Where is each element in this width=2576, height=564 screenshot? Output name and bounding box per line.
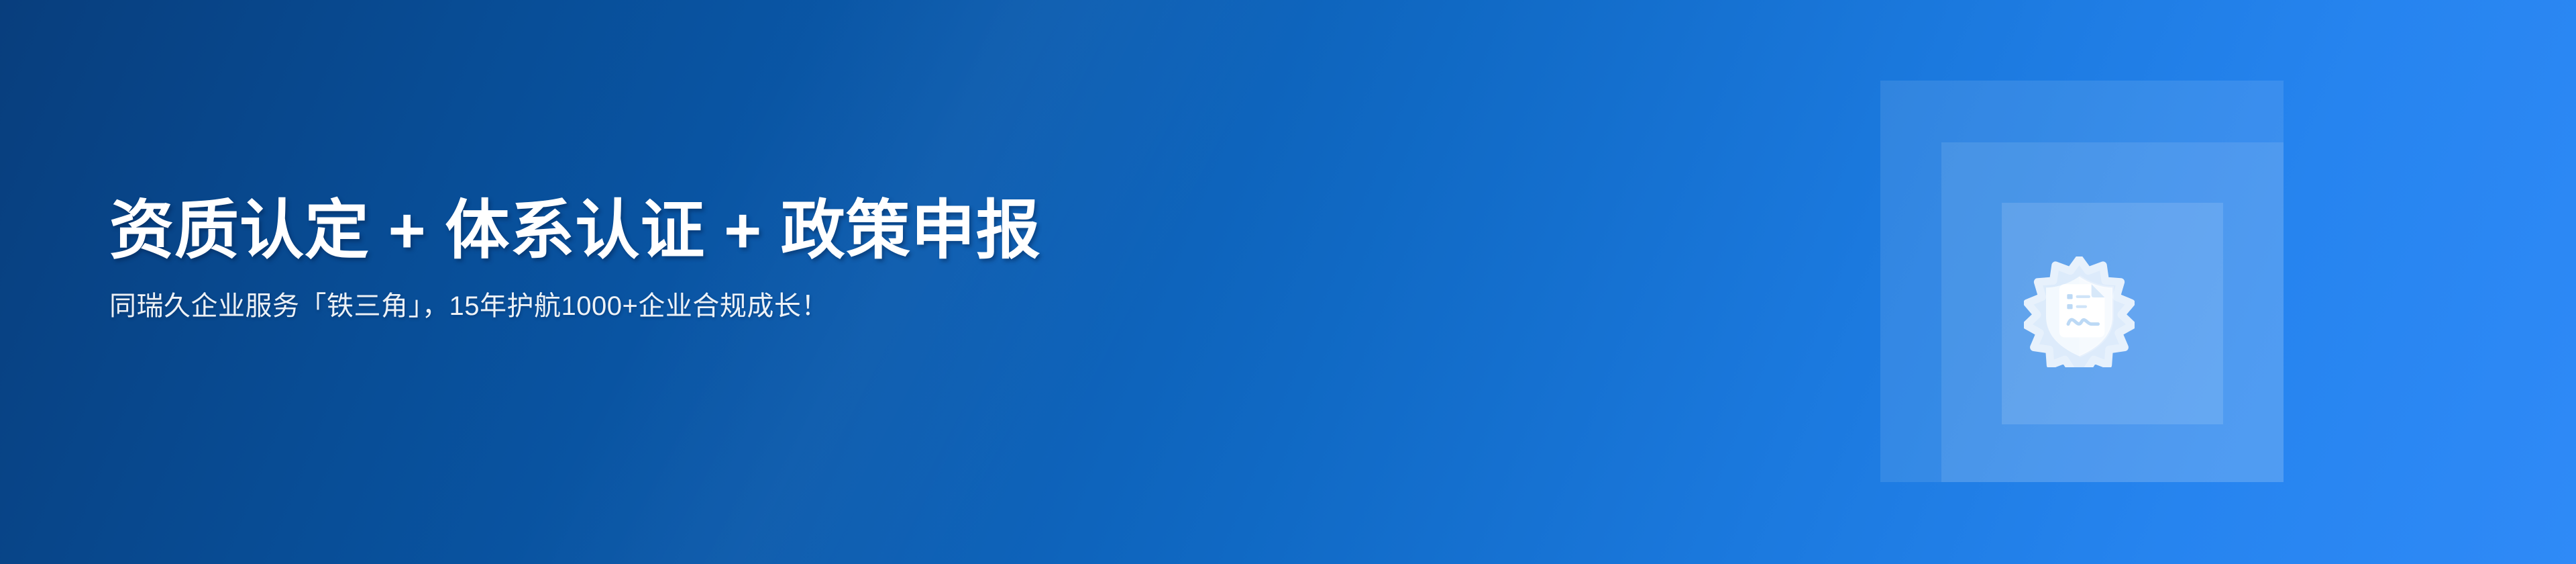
document-shape (2059, 284, 2105, 337)
banner-decoration (1880, 81, 2284, 482)
banner-subheadline: 同瑞久企业服务「铁三角」，15年护航1000+企业合规成长！ (109, 267, 1719, 324)
promo-banner: 资质认定 + 体系认证 + 政策申报 同瑞久企业服务「铁三角」，15年护航100… (0, 0, 2576, 564)
banner-copy-block: 资质认定 + 体系认证 + 政策申报 同瑞久企业服务「铁三角」，15年护航100… (109, 195, 1719, 324)
certificate-shield-badge-icon (2024, 256, 2135, 367)
banner-headline: 资质认定 + 体系认证 + 政策申报 (109, 195, 1719, 267)
